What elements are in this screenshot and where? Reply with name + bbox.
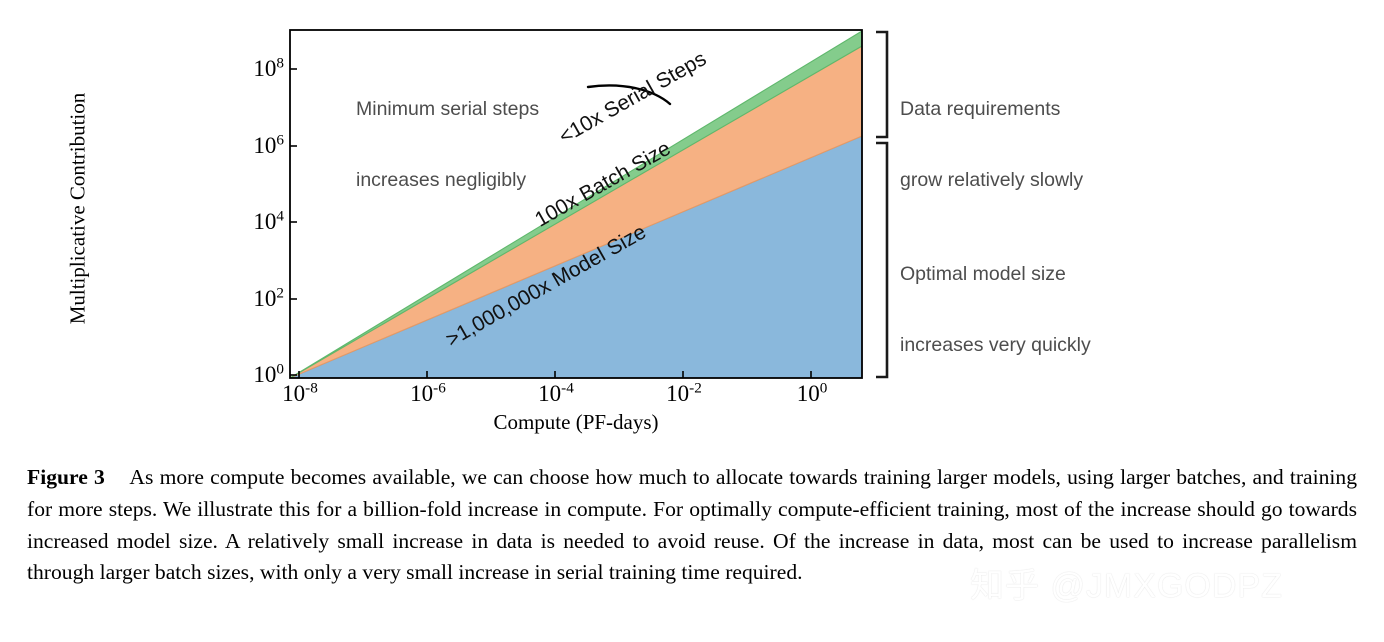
x-tick-base-1: 10 <box>410 381 433 406</box>
figure-caption-label: Figure 3 <box>27 465 105 489</box>
y-tick-exp-0: 0 <box>276 360 284 377</box>
annotation-min-serial-steps-line2: increases negligibly <box>356 169 539 193</box>
annotation-optimal-model-size: Optimal model size increases very quickl… <box>900 215 1091 405</box>
y-tick-base-2: 10 <box>253 209 276 234</box>
y-tick-label-0: 100 <box>234 362 284 388</box>
y-tick-exp-1: 2 <box>276 284 284 301</box>
annotation-min-serial-steps-line1: Minimum serial steps <box>356 98 539 122</box>
annotation-min-serial-steps: Minimum serial steps increases negligibl… <box>356 50 539 240</box>
y-tick-label-2: 104 <box>234 209 284 235</box>
x-tick-label-4: 100 <box>789 381 835 407</box>
annotation-data-requirements-line2: grow relatively slowly <box>900 169 1083 193</box>
bracket-optimal-model-size <box>876 143 887 377</box>
x-tick-exp-0: -8 <box>305 379 318 396</box>
y-tick-exp-2: 4 <box>276 207 284 224</box>
x-tick-base-3: 10 <box>666 381 689 406</box>
y-tick-base-1: 10 <box>253 286 276 311</box>
figure-caption-text: As more compute becomes available, we ca… <box>27 465 1357 584</box>
figure-page: <10x Serial Steps 100x Batch Size >1,000… <box>0 0 1384 642</box>
y-tick-base-4: 10 <box>253 56 276 81</box>
annotation-data-requirements: Data requirements grow relatively slowly <box>900 50 1083 240</box>
annotation-data-requirements-line1: Data requirements <box>900 98 1083 122</box>
y-tick-exp-3: 6 <box>276 131 284 148</box>
x-tick-base-4: 10 <box>797 381 820 406</box>
figure-3-chart: <10x Serial Steps 100x Batch Size >1,000… <box>0 0 1384 455</box>
annotation-optimal-model-size-line2: increases very quickly <box>900 334 1091 358</box>
x-tick-exp-2: -4 <box>561 379 574 396</box>
y-tick-label-3: 106 <box>234 133 284 159</box>
x-tick-exp-1: -6 <box>433 379 446 396</box>
x-axis-title: Compute (PF-days) <box>376 410 776 435</box>
figure-caption: Figure 3 As more compute becomes availab… <box>27 462 1357 589</box>
bracket-data-requirements <box>876 32 887 137</box>
x-tick-base-2: 10 <box>538 381 561 406</box>
y-tick-exp-4: 8 <box>276 54 284 71</box>
x-tick-exp-3: -2 <box>689 379 702 396</box>
y-tick-base-3: 10 <box>253 133 276 158</box>
y-tick-label-4: 108 <box>234 56 284 82</box>
x-tick-label-2: 10-4 <box>533 381 579 407</box>
y-tick-label-1: 102 <box>234 286 284 312</box>
y-axis-ticks <box>290 69 297 375</box>
figure-caption-gap <box>105 465 130 489</box>
x-tick-label-3: 10-2 <box>661 381 707 407</box>
x-tick-exp-4: 0 <box>820 379 828 396</box>
y-tick-base-0: 10 <box>253 362 276 387</box>
x-tick-base-0: 10 <box>282 381 305 406</box>
y-axis-title: Multiplicative Contribution <box>66 49 91 369</box>
annotation-optimal-model-size-line1: Optimal model size <box>900 263 1091 287</box>
x-tick-label-1: 10-6 <box>405 381 451 407</box>
